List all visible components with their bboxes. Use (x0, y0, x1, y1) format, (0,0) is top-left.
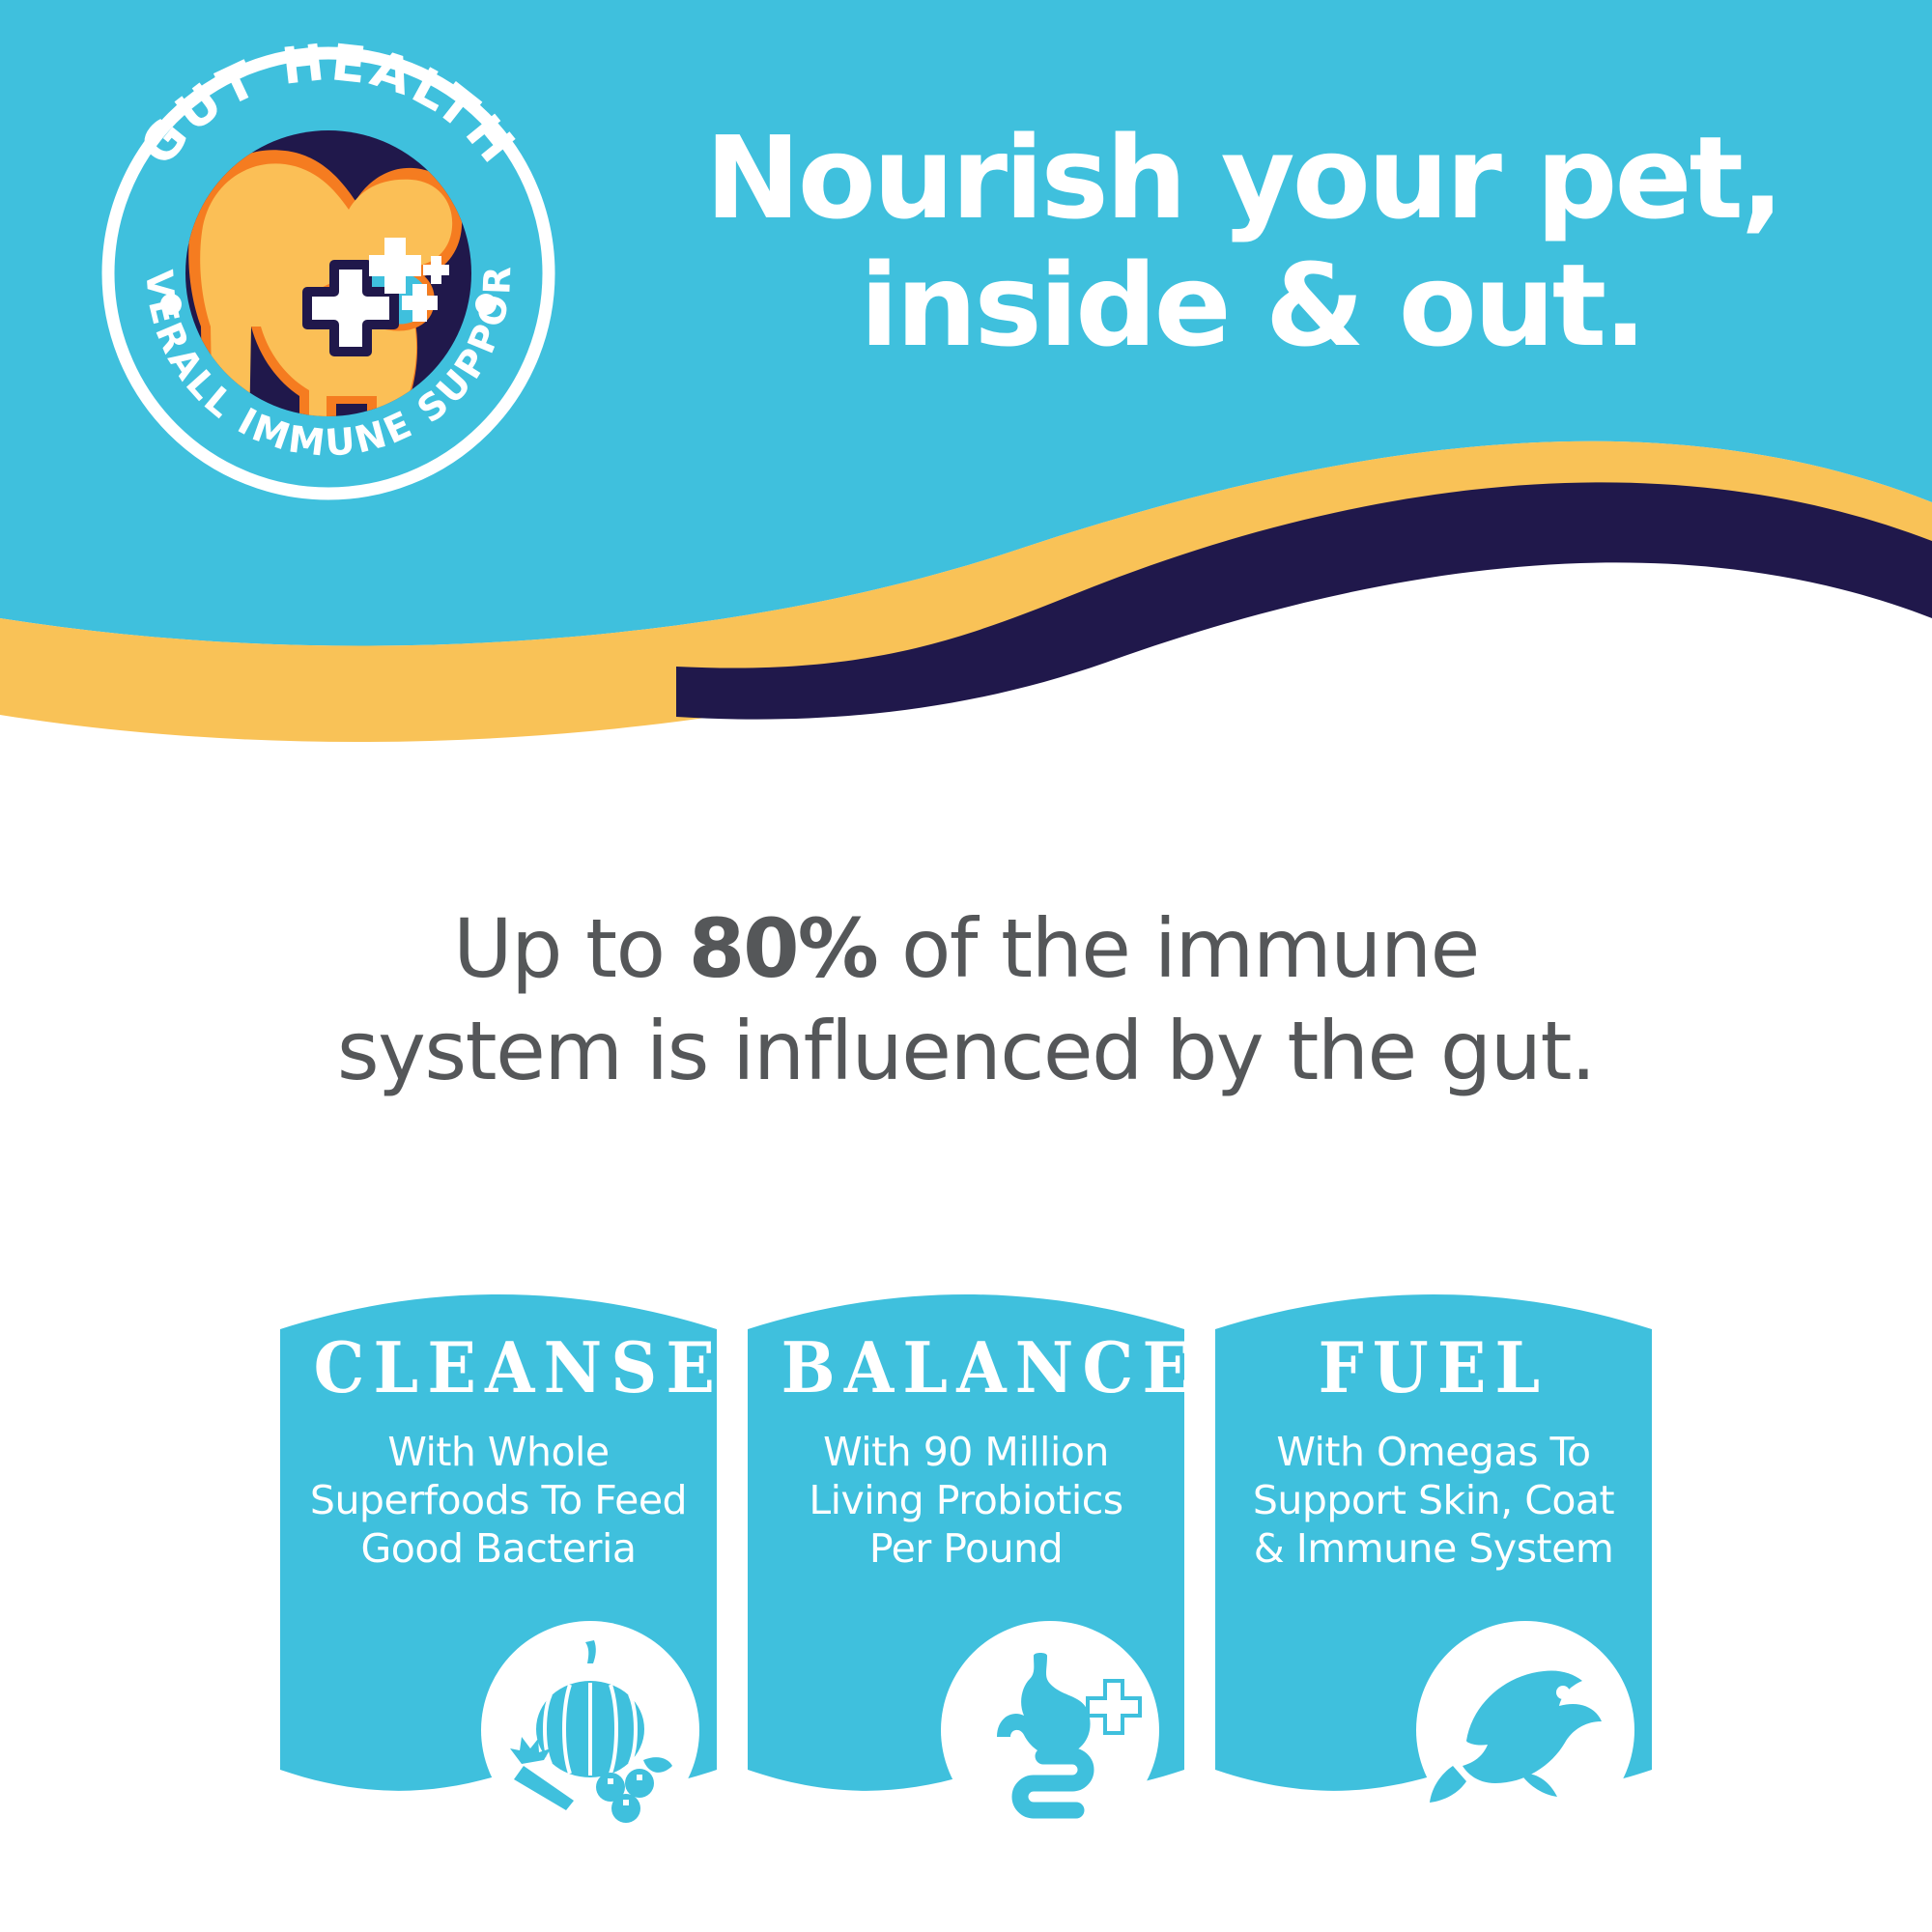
card-description: With Omegas To Support Skin, Coat & Immu… (1233, 1428, 1634, 1573)
stat-percent-value: 80% (689, 901, 877, 996)
hero-banner: GUT HEALTH OVERALL IMMUNE SUPPORT Nouris… (0, 0, 1932, 831)
card-text-block: BALANCE With 90 Million Living Probiotic… (748, 1294, 1184, 1573)
card-description: With 90 Million Living Probiotics Per Po… (765, 1428, 1167, 1573)
card-desc-line-2: Living Probiotics (765, 1476, 1167, 1524)
card-title: FUEL (1249, 1333, 1619, 1403)
card-desc-line-1: With 90 Million (765, 1428, 1167, 1476)
card-desc-line-3: & Immune System (1233, 1524, 1634, 1573)
card-desc-line-3: Good Bacteria (298, 1524, 699, 1573)
benefit-cards: CLEANSE With Whole Superfoods To Feed Go… (0, 1294, 1932, 1893)
card-desc-line-3: Per Pound (765, 1524, 1167, 1573)
card-text-block: FUEL With Omegas To Support Skin, Coat &… (1215, 1294, 1652, 1573)
card-title: BALANCE (781, 1333, 1151, 1403)
page-headline: Nourish your pet, inside & out. (705, 114, 1884, 369)
badge-dot-right (475, 294, 497, 315)
benefit-card-balance[interactable]: BALANCE With 90 Million Living Probiotic… (748, 1294, 1184, 1874)
card-desc-line-1: With Omegas To (1233, 1428, 1634, 1476)
stat-line-2: system is influenced by the gut. (0, 1001, 1932, 1103)
fish-icon (1416, 1621, 1634, 1839)
pumpkin-carrot-berries-icon (481, 1621, 699, 1839)
card-desc-line-2: Support Skin, Coat (1233, 1476, 1634, 1524)
fish-eye (1556, 1686, 1570, 1699)
benefit-card-fuel[interactable]: FUEL With Omegas To Support Skin, Coat &… (1215, 1294, 1652, 1874)
card-title: CLEANSE (314, 1333, 684, 1403)
benefit-card-cleanse[interactable]: CLEANSE With Whole Superfoods To Feed Go… (280, 1294, 717, 1874)
stomach-intestines-plus-icon (941, 1621, 1159, 1839)
stat-line-1: Up to 80% of the immune (0, 898, 1932, 1001)
card-desc-line-1: With Whole (298, 1428, 699, 1476)
card-text-block: CLEANSE With Whole Superfoods To Feed Go… (280, 1294, 717, 1573)
card-description: With Whole Superfoods To Feed Good Bacte… (298, 1428, 699, 1573)
gut-health-badge: GUT HEALTH OVERALL IMMUNE SUPPORT (77, 37, 580, 510)
headline-line-1: Nourish your pet, (705, 114, 1884, 241)
badge-graphic: GUT HEALTH OVERALL IMMUNE SUPPORT (77, 37, 580, 510)
stat-statement: Up to 80% of the immune system is influe… (0, 898, 1932, 1103)
headline-line-2: inside & out. (860, 241, 1884, 369)
card-desc-line-2: Superfoods To Feed (298, 1476, 699, 1524)
stat-prefix: Up to (453, 901, 689, 996)
badge-dot-left (160, 294, 182, 315)
stat-suffix: of the immune (877, 901, 1479, 996)
